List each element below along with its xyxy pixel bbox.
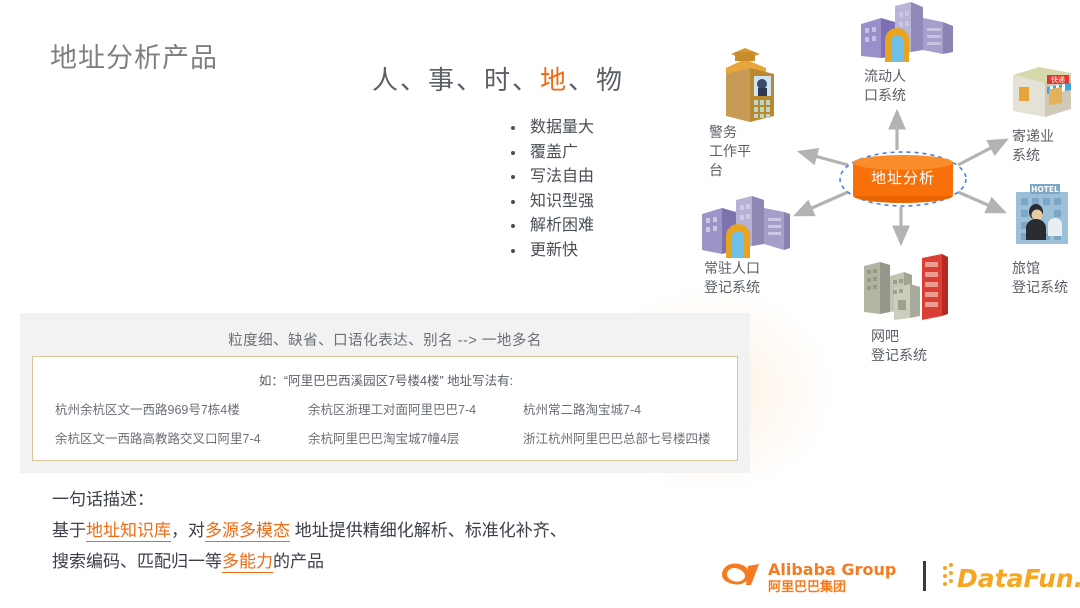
residential-buildings-icon <box>696 192 792 262</box>
datafun-logo: DataFun. <box>940 560 1080 594</box>
node-label-internet-cafe: 网吧 登记系统 <box>871 327 927 365</box>
node-label-hotel: 旅馆 登记系统 <box>1012 259 1068 297</box>
node-label-express: 寄递业 系统 <box>1012 127 1054 165</box>
datafun-wordmark: DataFun. <box>957 564 1080 593</box>
alibaba-wordmark-cn: 阿里巴巴集团 <box>768 579 846 595</box>
node-label-resident: 常驻人口 登记系统 <box>704 259 760 297</box>
svg-text:HOTEL: HOTEL <box>1031 185 1059 194</box>
alibaba-wordmark: Alibaba Group <box>768 560 896 579</box>
logo-divider <box>923 561 926 591</box>
shop-icon: 快递 <box>1005 57 1079 127</box>
city-buildings-icon <box>851 0 959 64</box>
alibaba-group-logo: Alibaba Group 阿里巴巴集团 <box>718 558 918 596</box>
node-label-police: 警务 工作平 台 <box>709 123 751 180</box>
police-building-icon <box>704 46 786 126</box>
center-node-address-analysis[interactable]: 地址分析 <box>853 155 953 203</box>
center-node-label: 地址分析 <box>853 167 953 188</box>
slide-canvas: 地址分析产品 人、事、时、地、物 数据量大 覆盖广 写法自由 知识型强 解析困难… <box>0 0 1080 608</box>
hotel-icon: HOTEL <box>1004 182 1078 252</box>
node-label-floating-population: 流动人 口系统 <box>864 67 906 105</box>
svg-text:快递: 快递 <box>1051 75 1065 84</box>
gray-red-buildings-icon <box>858 250 950 322</box>
